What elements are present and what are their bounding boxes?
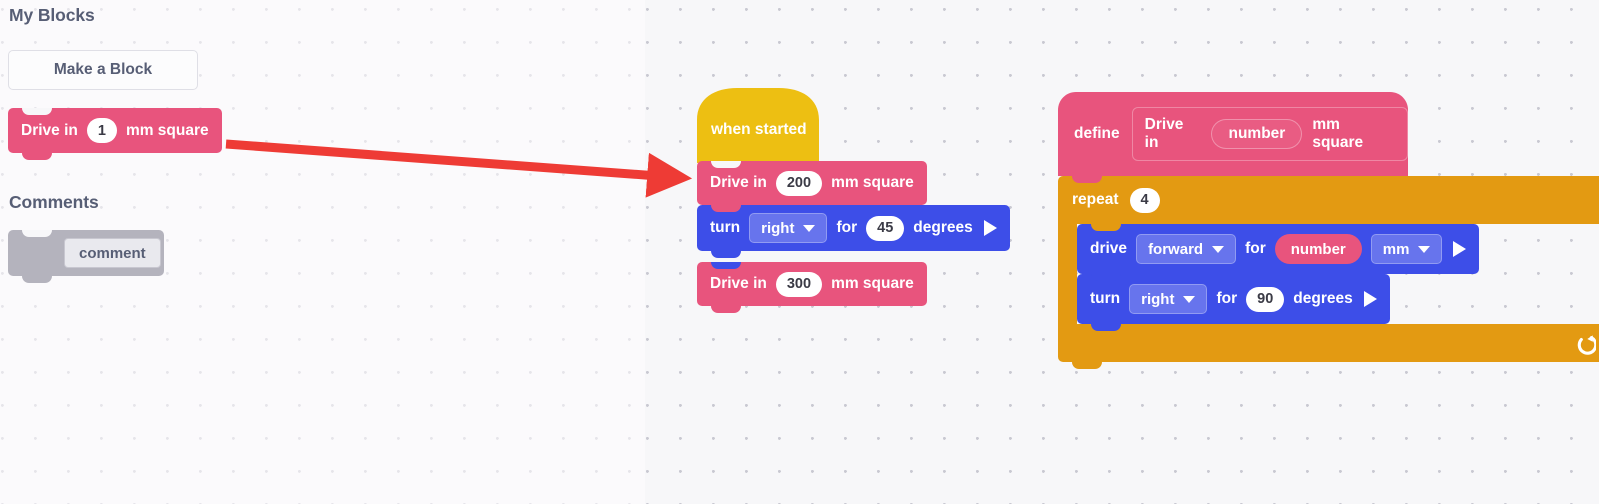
chevron-down-icon xyxy=(1418,246,1430,253)
block-top-notch xyxy=(1091,274,1121,281)
block-number-input[interactable]: 300 xyxy=(776,272,822,297)
units-dropdown-value: mm xyxy=(1383,241,1410,258)
direction-dropdown-value: right xyxy=(761,220,794,237)
block-label-end: mm square xyxy=(831,275,914,293)
chevron-down-icon xyxy=(803,225,815,232)
palette-block-label-start: Drive in xyxy=(21,122,78,140)
block-label-start: Drive in xyxy=(710,174,767,192)
loop-arrow-icon xyxy=(1574,334,1596,356)
units-dropdown[interactable]: mm xyxy=(1371,234,1443,264)
block-palette: My Blocks Make a Block Drive in 1 mm squ… xyxy=(0,0,645,504)
comments-section-title: Comments xyxy=(9,192,99,213)
drive-label-for: for xyxy=(1245,240,1266,258)
block-prototype[interactable]: Drive in number mm square xyxy=(1132,107,1408,161)
palette-comment-block[interactable]: comment xyxy=(8,230,164,276)
block-drive-in-300-mm-square[interactable]: Drive in 300 mm square xyxy=(697,262,927,306)
drive-direction-dropdown[interactable]: forward xyxy=(1136,234,1236,264)
turn-degrees-input[interactable]: 90 xyxy=(1246,287,1284,312)
block-label-turn: turn xyxy=(710,219,740,237)
block-bottom-nub xyxy=(22,153,52,160)
comment-bottom-nub xyxy=(22,276,52,283)
block-top-notch xyxy=(711,161,741,168)
degrees-number-input[interactable]: 45 xyxy=(866,216,904,241)
block-drive-forward[interactable]: drive forward for number mm xyxy=(1077,224,1479,274)
hat-block-when-started[interactable]: when started xyxy=(697,88,819,163)
drive-label: drive xyxy=(1090,240,1127,258)
turn-label-degrees: degrees xyxy=(1293,290,1352,308)
block-label-degrees: degrees xyxy=(913,219,972,237)
direction-dropdown[interactable]: right xyxy=(749,213,827,243)
chevron-down-icon xyxy=(1212,246,1224,253)
hat-block-label: when started xyxy=(711,121,807,139)
palette-block-number-input[interactable]: 1 xyxy=(87,118,117,143)
repeat-left-spine xyxy=(1058,224,1077,324)
block-turn-right-90-degrees[interactable]: turn right for 90 degrees xyxy=(1077,274,1390,324)
block-turn-right-45-degrees[interactable]: turn right for 45 degrees xyxy=(697,205,1010,251)
comment-text-field[interactable]: comment xyxy=(64,238,161,268)
prototype-label-end: mm square xyxy=(1312,116,1395,152)
repeat-label: repeat xyxy=(1072,191,1119,209)
palette-block-drive-in-mm-square[interactable]: Drive in 1 mm square xyxy=(8,108,222,153)
turn-direction-dropdown[interactable]: right xyxy=(1129,284,1207,314)
play-icon[interactable] xyxy=(1453,241,1466,257)
block-number-input[interactable]: 200 xyxy=(776,171,822,196)
chevron-down-icon xyxy=(1183,296,1195,303)
define-keyword-label: define xyxy=(1074,125,1120,143)
block-top-notch xyxy=(711,205,741,212)
block-label-for: for xyxy=(836,219,857,237)
prototype-parameter-number[interactable]: number xyxy=(1211,119,1302,149)
drive-direction-value: forward xyxy=(1148,241,1203,258)
prototype-label-start: Drive in xyxy=(1145,116,1202,152)
comment-top-notch xyxy=(22,230,52,237)
workspace-root: My Blocks Make a Block Drive in 1 mm squ… xyxy=(0,0,1599,504)
block-drive-in-200-mm-square[interactable]: Drive in 200 mm square xyxy=(697,161,927,205)
make-a-block-button[interactable]: Make a Block xyxy=(8,50,198,90)
block-label-start: Drive in xyxy=(710,275,767,293)
play-icon[interactable] xyxy=(1364,291,1377,307)
turn-label: turn xyxy=(1090,290,1120,308)
block-top-notch xyxy=(711,262,741,269)
define-hat-block[interactable]: define Drive in number mm square xyxy=(1058,92,1408,176)
play-icon[interactable] xyxy=(984,220,997,236)
repeat-footer-bar xyxy=(1058,324,1599,362)
block-repeat-4[interactable]: repeat 4 drive forward for number xyxy=(1058,176,1599,362)
palette-block-label-end: mm square xyxy=(126,122,209,140)
variable-reporter-number[interactable]: number xyxy=(1275,234,1362,264)
block-top-notch xyxy=(22,108,52,115)
repeat-count-input[interactable]: 4 xyxy=(1130,188,1160,213)
turn-direction-value: right xyxy=(1141,291,1174,308)
my-blocks-section-title: My Blocks xyxy=(9,5,95,26)
block-label-end: mm square xyxy=(831,174,914,192)
block-top-notch xyxy=(1091,224,1121,231)
turn-label-for: for xyxy=(1216,290,1237,308)
